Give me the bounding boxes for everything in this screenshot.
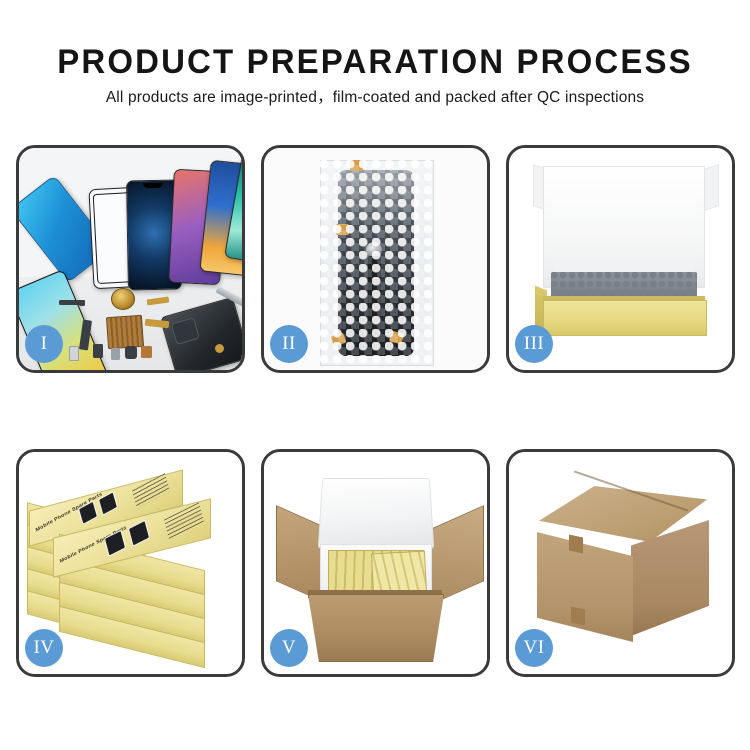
foam-case-lid [318, 478, 434, 549]
process-step-6[interactable]: VI [506, 449, 735, 677]
small-chip [141, 346, 152, 358]
step-1-photo: I [19, 148, 242, 370]
step-3-photo: III [509, 148, 732, 370]
process-step-3[interactable]: III [506, 145, 735, 373]
screw-tray [106, 315, 144, 349]
carton-front-face [537, 532, 633, 642]
carton-front [308, 594, 444, 662]
carton-tape-lower [571, 607, 585, 626]
process-step-5[interactable]: V [261, 449, 490, 677]
notch [143, 183, 163, 188]
step-2-photo: II [264, 148, 487, 370]
speaker-module [111, 288, 135, 310]
page-subtitle: All products are image-printed，film-coat… [0, 82, 750, 108]
box-spec-text-back [132, 473, 170, 509]
step-badge-6: VI [515, 629, 553, 667]
step-badge-2: II [270, 325, 308, 363]
page-header: PRODUCT PREPARATION PROCESS All products… [0, 0, 750, 108]
step-6-photo: VI [509, 452, 732, 674]
step-badge-5: V [270, 629, 308, 667]
step-badge-3: III [515, 325, 553, 363]
process-step-2[interactable]: II [261, 145, 490, 373]
box-art-screen-d [128, 520, 150, 547]
yellow-box-front [543, 300, 707, 336]
process-step-4[interactable]: Mobile Phone Spare Parts Mobile Phone Sp… [16, 449, 245, 677]
step-4-photo: Mobile Phone Spare Parts Mobile Phone Sp… [19, 452, 242, 674]
bubble-texture [320, 160, 432, 364]
camera-module [93, 344, 103, 358]
carton-tape-upper [569, 535, 583, 554]
inner-boxes-right [371, 551, 427, 596]
vibration-motor [125, 346, 137, 359]
screw-2 [215, 344, 224, 353]
box-spec-text-front [164, 502, 204, 539]
process-step-1[interactable]: I [16, 145, 245, 373]
foam-insert [553, 194, 695, 274]
step-5-photo: V [264, 452, 487, 674]
step-badge-4: IV [25, 629, 63, 667]
battery-connector [111, 348, 120, 360]
process-step-grid: I II III [16, 145, 735, 677]
screw-1 [79, 300, 85, 306]
page-title: PRODUCT PREPARATION PROCESS [11, 0, 739, 82]
step-badge-1: I [25, 325, 63, 363]
sim-tray [69, 346, 79, 361]
